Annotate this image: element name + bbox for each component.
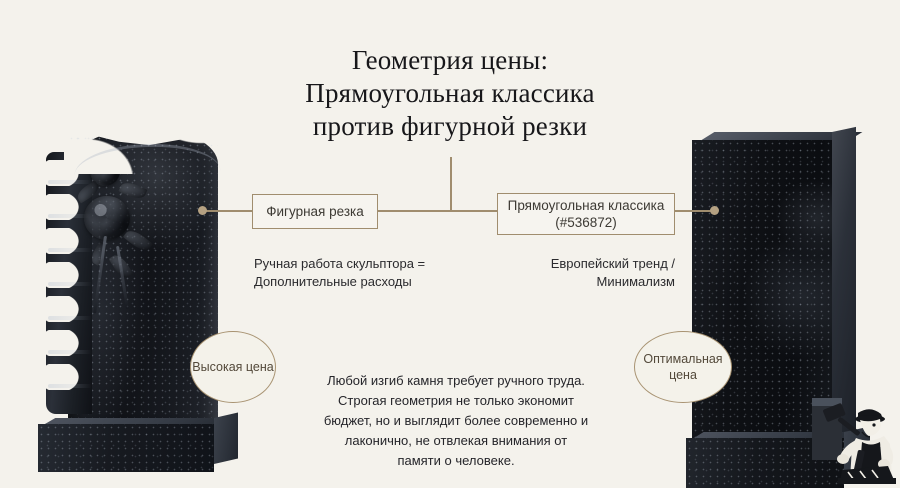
callout-box-rectangular-classic-label: Прямоугольная классика (508, 198, 665, 213)
caption-right: Европейский тренд / Минимализм (470, 255, 675, 291)
infographic-canvas: Геометрия цены: Прямоугольная классика п… (0, 0, 900, 488)
monument-left-plinth-side (214, 412, 238, 464)
connector-dot-left (198, 206, 207, 215)
title-line-1: Геометрия цены: (220, 44, 680, 77)
status-badge-high-price: Высокая цена (190, 331, 276, 403)
monument-right-side (832, 127, 856, 440)
title-line-2: Прямоугольная классика (220, 77, 680, 110)
title-line-3: против фигурной резки (220, 110, 680, 143)
page-title: Геометрия цены: Прямоугольная классика п… (220, 44, 680, 143)
callout-box-rectangular-classic[interactable]: Прямоугольная классика (#536872) (497, 193, 675, 235)
callout-box-figured-cut-label: Фигурная резка (266, 203, 363, 220)
caption-left: Ручная работа скульптора = Дополнительны… (254, 255, 484, 291)
status-badge-optimal-price-label: Оптимальная цена (635, 351, 731, 383)
body-paragraph: Любой изгиб камня требует ручного труда.… (322, 371, 590, 471)
connector-line-left-stem (202, 210, 254, 212)
connector-line-vertical-title (450, 157, 452, 211)
callout-box-figured-cut[interactable]: Фигурная резка (252, 194, 378, 229)
monument-left-plinth (38, 424, 214, 472)
monument-figured-carved (38, 128, 248, 488)
status-badge-optimal-price: Оптимальная цена (634, 331, 732, 403)
connector-line-center (376, 210, 497, 212)
connector-line-right-stem (673, 210, 715, 212)
callout-box-rectangular-classic-code: (#536872) (555, 215, 617, 230)
stonemason-logo (812, 398, 896, 484)
status-badge-high-price-label: Высокая цена (192, 359, 273, 375)
connector-dot-right (710, 206, 719, 215)
